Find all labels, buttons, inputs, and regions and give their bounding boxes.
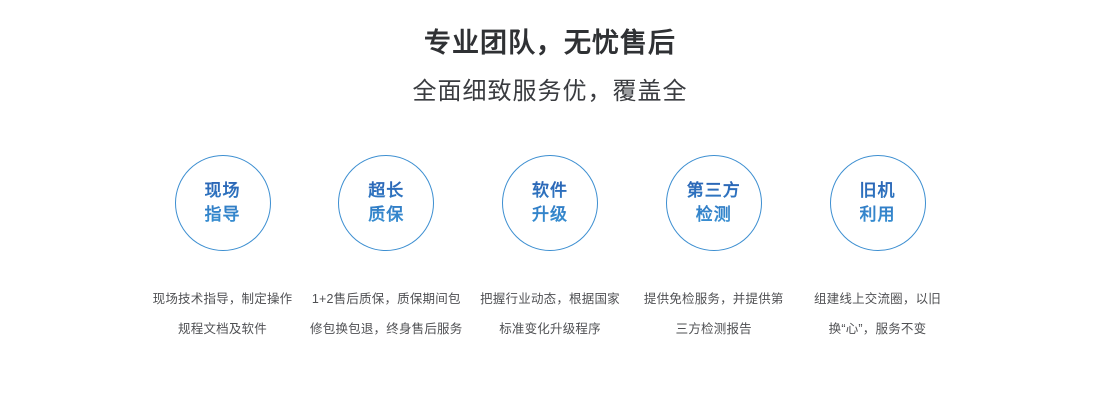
feature-circle-label: 软件 升级 [532, 179, 568, 227]
feature-circle-label: 旧机 利用 [860, 179, 896, 227]
feature-item-on-site-guidance[interactable]: 现场 指导 现场技术指导，制定操作 规程文档及软件 [145, 155, 300, 344]
feature-circle-label: 超长 质保 [368, 179, 404, 227]
feature-item-software-upgrade[interactable]: 软件 升级 把握行业动态，根据国家 标准变化升级程序 [473, 155, 628, 344]
feature-item-third-party-inspection[interactable]: 第三方 检测 提供免检服务，并提供第 三方检测报告 [636, 155, 791, 344]
page-title: 专业团队，无忧售后 [0, 26, 1100, 60]
service-promise-banner: 专业团队，无忧售后 全面细致服务优，覆盖全 现场 指导 现场技术指导，制定操作 … [0, 0, 1100, 404]
feature-circle-old-machine-reuse[interactable]: 旧机 利用 [830, 155, 926, 251]
feature-circle-label: 第三方 检测 [687, 179, 741, 227]
feature-list: 现场 指导 现场技术指导，制定操作 规程文档及软件 超长 质保 1+2售后质保，… [145, 155, 955, 344]
feature-circle-extended-warranty[interactable]: 超长 质保 [338, 155, 434, 251]
feature-caption: 1+2售后质保，质保期间包 修包换包退，终身售后服务 [302, 284, 470, 344]
feature-circle-label: 现场 指导 [205, 179, 241, 227]
feature-item-old-machine-reuse[interactable]: 旧机 利用 组建线上交流圈，以旧 换“心”，服务不变 [800, 155, 955, 344]
feature-caption: 现场技术指导，制定操作 规程文档及软件 [139, 284, 307, 344]
feature-caption: 组建线上交流圈，以旧 换“心”，服务不变 [794, 284, 962, 344]
heading-block: 专业团队，无忧售后 全面细致服务优，覆盖全 [0, 26, 1100, 108]
feature-circle-third-party-inspection[interactable]: 第三方 检测 [666, 155, 762, 251]
feature-caption: 提供免检服务，并提供第 三方检测报告 [630, 284, 798, 344]
feature-circle-on-site-guidance[interactable]: 现场 指导 [175, 155, 271, 251]
feature-item-extended-warranty[interactable]: 超长 质保 1+2售后质保，质保期间包 修包换包退，终身售后服务 [309, 155, 464, 344]
feature-circle-software-upgrade[interactable]: 软件 升级 [502, 155, 598, 251]
feature-caption: 把握行业动态，根据国家 标准变化升级程序 [466, 284, 634, 344]
page-subtitle: 全面细致服务优，覆盖全 [0, 76, 1100, 108]
